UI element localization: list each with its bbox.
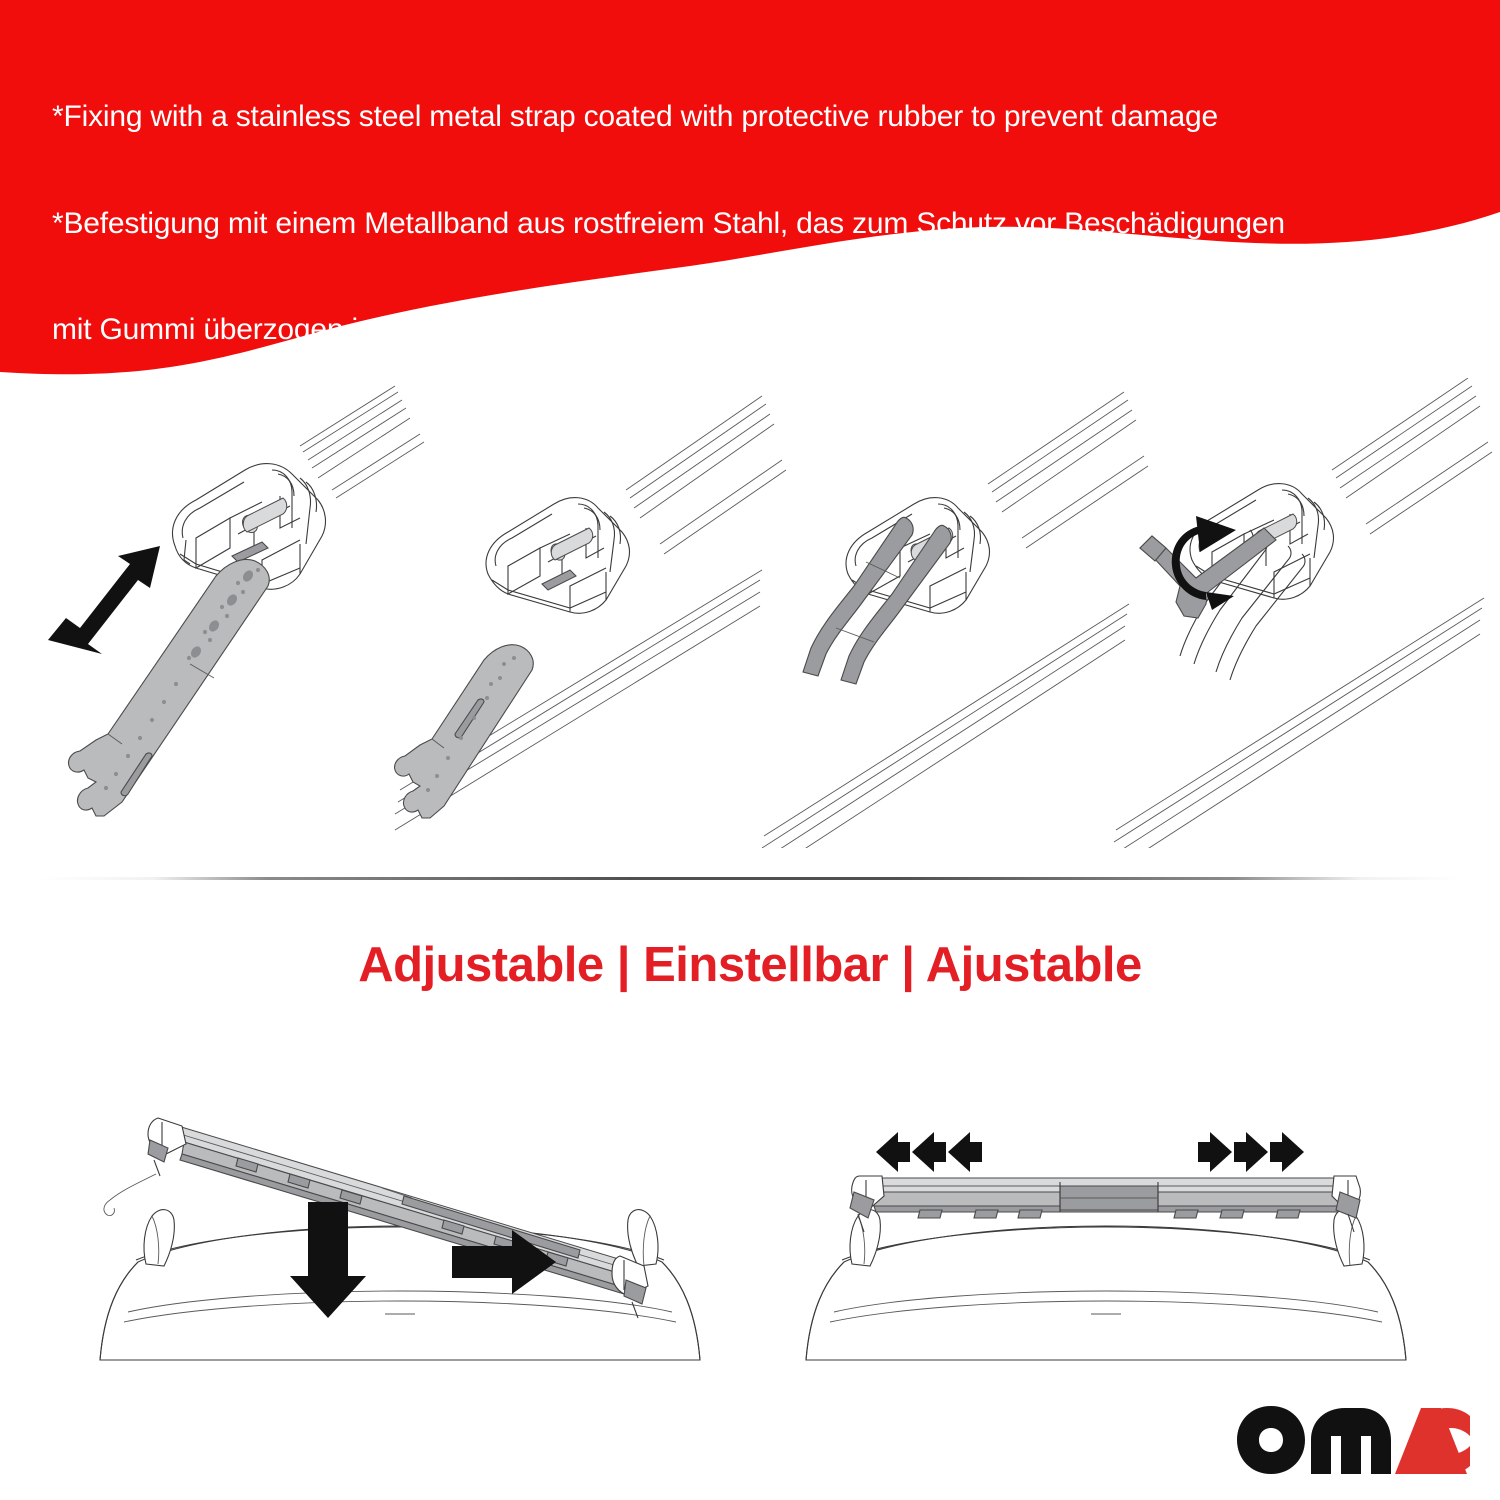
section-divider (40, 877, 1460, 880)
header-line-en: *Fixing with a stainless steel metal str… (52, 99, 1452, 135)
header-banner: *Fixing with a stainless steel metal str… (0, 0, 1500, 400)
mount-crossbar-illustration (100, 1118, 700, 1360)
infographic-page: *Fixing with a stainless steel metal str… (0, 0, 1500, 1500)
up-arrow (48, 546, 160, 654)
installation-steps (0, 378, 1500, 848)
header-line-de-1: *Befestigung mit einem Metallband aus ro… (52, 206, 1452, 242)
step-2-illustration (395, 396, 786, 830)
step-1-illustration (48, 386, 424, 816)
adjustable-illustrations (0, 1060, 1500, 1390)
metal-strap (69, 559, 270, 816)
header-line-de-2: mit Gummi überzogen ist (52, 312, 1452, 348)
step-3-illustration (760, 392, 1148, 848)
extend-crossbar-illustration (806, 1132, 1406, 1360)
adjustable-title: Adjustable | Einstellbar | Ajustable (0, 937, 1500, 993)
omac-logo (1235, 1402, 1470, 1477)
triple-left-arrow (876, 1132, 982, 1172)
step-4-illustration (1112, 378, 1492, 848)
triple-right-arrow (1198, 1132, 1304, 1172)
